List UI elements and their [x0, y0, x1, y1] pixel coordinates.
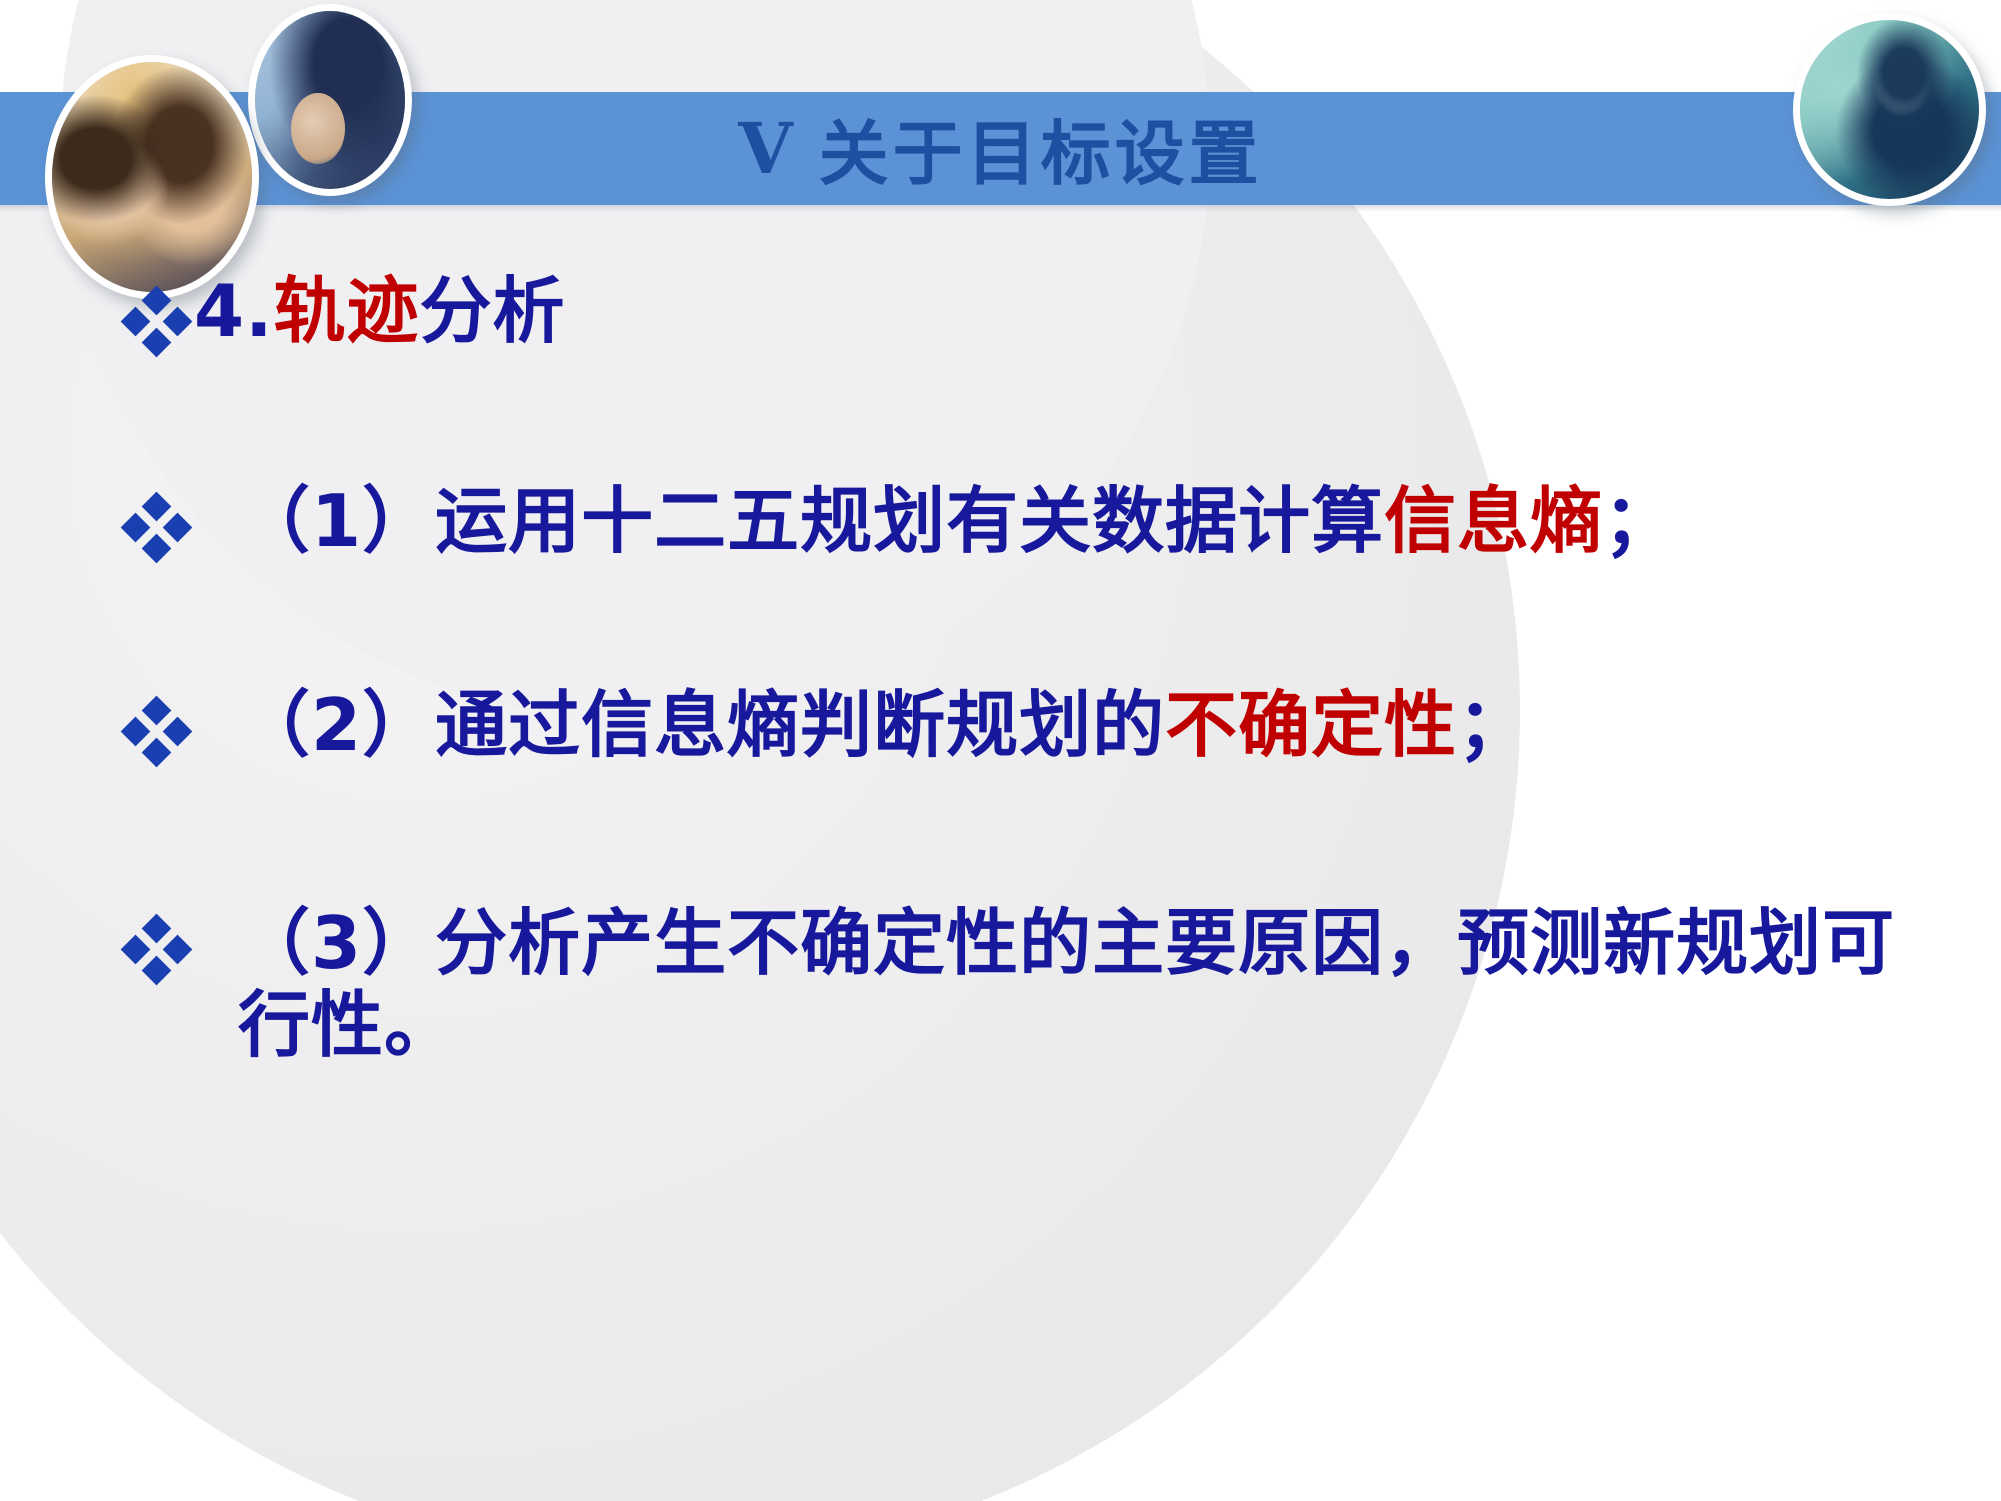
bullet-segment-tail: 分析	[419, 269, 565, 353]
bullet-segment-number: 4.	[194, 269, 273, 353]
bullet-2-text: （2）通过信息熵判断规划的不确定性；	[238, 684, 1530, 766]
bullet-item-heading: 4.轨迹分析	[0, 270, 2001, 360]
slide-body: 4.轨迹分析 （1）运用十二五规划有关数据计算信息熵； （2）通过信息熵判断规划…	[0, 270, 2001, 1066]
bullet-segment-lead: （3）分析产生不确定性的主要原因，预测新规划可行性。	[238, 901, 1895, 1067]
bullet-segment-punctuation: ；	[1603, 479, 1676, 563]
title-numeral: Ⅴ	[738, 107, 796, 191]
bullet-segment-lead: （2）通过信息熵判断规划的	[238, 683, 1165, 767]
office-teamwork-photo	[45, 55, 259, 299]
business-handshake-photo-content	[255, 11, 405, 189]
bullet-1-text: （1）运用十二五规划有关数据计算信息熵；	[238, 480, 1676, 562]
diamond-cluster-bullet-icon	[120, 914, 194, 988]
diamond-cluster-bullet-icon	[120, 492, 194, 566]
title-text: 关于目标设置	[819, 98, 1263, 199]
bullet-segment-punctuation: ；	[1457, 683, 1530, 767]
bullet-segment-highlight: 轨迹	[273, 269, 419, 353]
presenter-flipchart-photo-content	[1800, 20, 1979, 199]
bullet-item-2: （2）通过信息熵判断规划的不确定性；	[0, 684, 2001, 770]
bullet-item-1: （1）运用十二五规划有关数据计算信息熵；	[0, 480, 2001, 566]
bullet-heading-text: 4.轨迹分析	[194, 270, 565, 352]
bullet-3-text: （3）分析产生不确定性的主要原因，预测新规划可行性。	[238, 902, 1961, 1066]
diamond-cluster-bullet-icon	[120, 286, 194, 360]
presentation-slide: Ⅴ 关于目标设置 4.轨迹分析 （1）运用十二五规划有关数据计算信息熵；	[0, 0, 2001, 1501]
office-teamwork-photo-content	[52, 62, 252, 292]
title-band-shadow	[0, 205, 2001, 212]
presenter-flipchart-photo	[1793, 13, 1986, 206]
bullet-segment-lead: （1）运用十二五规划有关数据计算	[238, 479, 1384, 563]
bullet-item-3: （3）分析产生不确定性的主要原因，预测新规划可行性。	[0, 902, 2001, 1066]
business-handshake-photo	[248, 4, 412, 196]
bullet-segment-highlight: 信息熵	[1384, 479, 1603, 563]
diamond-cluster-bullet-icon	[120, 696, 194, 770]
bullet-segment-highlight: 不确定性	[1165, 683, 1457, 767]
